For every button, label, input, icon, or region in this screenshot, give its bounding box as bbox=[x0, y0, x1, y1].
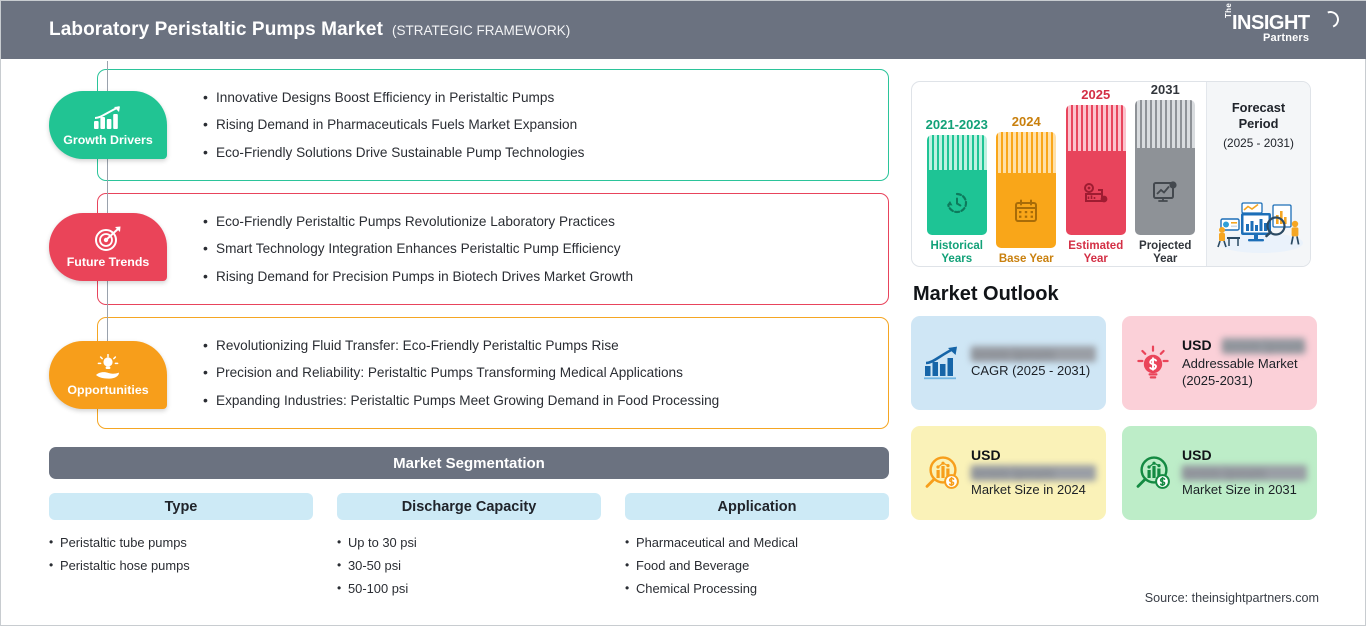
outlook-card-label: Market Size in 2024 bbox=[971, 482, 1096, 498]
list-item: Pharmaceutical and Medical bbox=[625, 532, 889, 555]
pill-connector-line bbox=[107, 183, 108, 217]
calendar-icon bbox=[1013, 198, 1039, 224]
timeline-category-label: Projected Year bbox=[1131, 240, 1199, 266]
bar-solid bbox=[1066, 151, 1126, 235]
badge-future-trends[interactable]: Future Trends bbox=[49, 213, 167, 281]
timeline-year-label: 2021-2023 bbox=[926, 117, 988, 132]
timeline-year-label: 2031 bbox=[1151, 82, 1180, 97]
logo-arc-icon bbox=[1319, 8, 1341, 30]
timeline-item-estimated: 2025 bbox=[1062, 82, 1130, 266]
bar-chart-arrow-icon bbox=[93, 104, 123, 130]
future-trends-card: Eco-Friendly Peristaltic Pumps Revolutio… bbox=[97, 193, 889, 305]
bar-stripe-top bbox=[1066, 105, 1126, 151]
outlook-card-value: lorem ipsum bbox=[971, 465, 1096, 481]
bar-solid bbox=[1135, 148, 1195, 235]
bar-solid bbox=[996, 173, 1056, 248]
timeline-item-projected: 2031 Projected Year bbox=[1131, 82, 1199, 266]
list-item: 50-100 psi bbox=[337, 578, 601, 601]
right-column: 2021-2023 Historical Years bbox=[911, 81, 1321, 520]
opportunities-card: Revolutionizing Fluid Transfer: Eco-Frie… bbox=[97, 317, 889, 429]
bar-stripe-top bbox=[1135, 100, 1195, 148]
outlook-card-currency: USD bbox=[1182, 337, 1212, 353]
column-list: Peristaltic tube pumps Peristaltic hose … bbox=[49, 532, 313, 578]
forecast-title-line2: Period bbox=[1239, 116, 1279, 132]
list-item: Eco-Friendly Peristaltic Pumps Revolutio… bbox=[203, 208, 870, 236]
future-trends-list: Eco-Friendly Peristaltic Pumps Revolutio… bbox=[203, 208, 870, 291]
lightbulb-hand-icon bbox=[93, 354, 123, 380]
column-header: Application bbox=[625, 493, 889, 520]
timeline-bar bbox=[996, 132, 1056, 248]
column-list: Up to 30 psi 30-50 psi 50-100 psi bbox=[337, 532, 601, 601]
outlook-card-addressable-market[interactable]: USD lorem ipsum Addressable Market (2025… bbox=[1122, 316, 1317, 410]
list-item: Precision and Reliability: Peristaltic P… bbox=[203, 359, 870, 387]
list-item: Peristaltic tube pumps bbox=[49, 532, 313, 555]
logo-partners-text: Partners bbox=[1263, 33, 1309, 44]
timeline-bar bbox=[1066, 105, 1126, 235]
badge-label: Opportunities bbox=[67, 383, 148, 397]
history-clock-icon bbox=[944, 190, 970, 216]
outlook-card-market-size-2024[interactable]: USD lorem ipsum Market Size in 2024 bbox=[911, 426, 1106, 520]
forecast-range: (2025 - 2031) bbox=[1223, 136, 1294, 150]
page-header: Laboratory Peristaltic Pumps Market (STR… bbox=[1, 1, 1366, 59]
segmentation-column-application: Application Pharmaceutical and Medical F… bbox=[625, 493, 889, 601]
segmentation-columns: Type Peristaltic tube pumps Peristaltic … bbox=[49, 493, 889, 601]
outlook-card-market-size-2031[interactable]: USD lorem ipsum Market Size in 2031 bbox=[1122, 426, 1317, 520]
magnifier-chart-orange-icon bbox=[921, 455, 963, 491]
timeline-year-label: 2025 bbox=[1081, 87, 1110, 102]
column-header: Type bbox=[49, 493, 313, 520]
page-subtitle: (STRATEGIC FRAMEWORK) bbox=[392, 23, 570, 38]
timeline-item-historical: 2021-2023 Historical Years bbox=[923, 82, 991, 266]
list-item: Rising Demand in Pharmaceuticals Fuels M… bbox=[203, 111, 870, 139]
list-item: 30-50 psi bbox=[337, 555, 601, 578]
pill-connector-line bbox=[107, 307, 108, 343]
outlook-card-cagr[interactable]: lorem ipsum CAGR (2025 - 2031) bbox=[911, 316, 1106, 410]
segmentation-column-discharge-capacity: Discharge Capacity Up to 30 psi 30-50 ps… bbox=[337, 493, 601, 601]
infographic-page: Laboratory Peristaltic Pumps Market (STR… bbox=[0, 0, 1366, 626]
page-title: Laboratory Peristaltic Pumps Market bbox=[49, 19, 383, 41]
outlook-card-value: lorem ipsum bbox=[971, 346, 1096, 362]
timeline-item-base: 2024 Base Year bbox=[992, 82, 1060, 266]
insight-partners-logo[interactable]: The INSIGHT Partners bbox=[1221, 10, 1343, 50]
forecast-title-line1: Forecast bbox=[1232, 100, 1285, 116]
opportunities-block: Opportunities Revolutionizing Fluid Tran… bbox=[49, 317, 889, 429]
outlook-card-text: USD lorem ipsum Market Size in 2031 bbox=[1182, 447, 1307, 498]
outlook-card-label: CAGR (2025 - 2031) bbox=[971, 363, 1096, 379]
list-item: Food and Beverage bbox=[625, 555, 889, 578]
outlook-card-value: lorem ipsum bbox=[1222, 338, 1305, 354]
drivers-column: Growth Drivers Innovative Designs Boost … bbox=[49, 69, 889, 441]
analytics-team-illustration bbox=[1213, 193, 1305, 258]
column-header: Discharge Capacity bbox=[337, 493, 601, 520]
outlook-card-currency: USD bbox=[1182, 447, 1212, 463]
opportunities-list: Revolutionizing Fluid Transfer: Eco-Frie… bbox=[203, 332, 870, 415]
outlook-card-value: lorem ipsum bbox=[1182, 465, 1307, 481]
segmentation-column-type: Type Peristaltic tube pumps Peristaltic … bbox=[49, 493, 313, 601]
forecast-timeline-chart: 2021-2023 Historical Years bbox=[911, 81, 1311, 267]
badge-label: Future Trends bbox=[67, 255, 150, 269]
growth-drivers-list: Innovative Designs Boost Efficiency in P… bbox=[203, 84, 870, 167]
source-attribution: Source: theinsightpartners.com bbox=[1145, 591, 1319, 605]
list-item: Chemical Processing bbox=[625, 578, 889, 601]
growth-chart-icon bbox=[921, 346, 963, 380]
bar-solid bbox=[927, 170, 987, 235]
segmentation-title: Market Segmentation bbox=[49, 447, 889, 479]
timeline-bar bbox=[1135, 100, 1195, 235]
logo-insight-text: INSIGHT bbox=[1232, 13, 1310, 33]
timeline-category-label: Historical Years bbox=[923, 240, 991, 266]
list-item: Rising Demand for Precision Pumps in Bio… bbox=[203, 263, 870, 291]
timeline-bars: 2021-2023 Historical Years bbox=[912, 82, 1206, 266]
market-outlook-title: Market Outlook bbox=[913, 283, 1321, 306]
market-segmentation: Market Segmentation Type Peristaltic tub… bbox=[49, 447, 889, 601]
magnifier-chart-green-icon bbox=[1132, 455, 1174, 491]
outlook-cards: lorem ipsum CAGR (2025 - 2031) bbox=[911, 316, 1321, 520]
forecast-period-panel: Forecast Period (2025 - 2031) bbox=[1206, 82, 1310, 266]
column-list: Pharmaceutical and Medical Food and Beve… bbox=[625, 532, 889, 601]
badge-label: Growth Drivers bbox=[63, 133, 153, 147]
list-item: Peristaltic hose pumps bbox=[49, 555, 313, 578]
monitor-chart-icon bbox=[1152, 180, 1178, 204]
list-item: Up to 30 psi bbox=[337, 532, 601, 555]
outlook-card-text: USD lorem ipsum Market Size in 2024 bbox=[971, 447, 1096, 498]
outlook-card-currency: USD bbox=[971, 447, 1001, 463]
outlook-card-label: Market Size in 2031 bbox=[1182, 482, 1307, 498]
future-trends-block: Future Trends Eco-Friendly Peristaltic P… bbox=[49, 193, 889, 305]
gear-chart-icon bbox=[1082, 181, 1110, 205]
growth-drivers-card: Innovative Designs Boost Efficiency in P… bbox=[97, 69, 889, 181]
list-item: Innovative Designs Boost Efficiency in P… bbox=[203, 84, 870, 112]
timeline-category-label: Base Year bbox=[999, 253, 1054, 266]
bar-stripe-top bbox=[927, 135, 987, 170]
outlook-card-text: USD lorem ipsum Addressable Market (2025… bbox=[1182, 337, 1307, 389]
bar-stripe-top bbox=[996, 132, 1056, 173]
outlook-card-label: Addressable Market (2025-2031) bbox=[1182, 356, 1307, 389]
badge-opportunities[interactable]: Opportunities bbox=[49, 341, 167, 409]
timeline-category-label: Estimated Year bbox=[1062, 240, 1130, 266]
growth-drivers-block: Growth Drivers Innovative Designs Boost … bbox=[49, 69, 889, 181]
dollar-bulb-icon bbox=[1132, 345, 1174, 381]
timeline-bar bbox=[927, 135, 987, 235]
list-item: Revolutionizing Fluid Transfer: Eco-Frie… bbox=[203, 332, 870, 360]
list-item: Eco-Friendly Solutions Drive Sustainable… bbox=[203, 139, 870, 167]
outlook-card-text: lorem ipsum CAGR (2025 - 2031) bbox=[971, 346, 1096, 379]
list-item: Smart Technology Integration Enhances Pe… bbox=[203, 235, 870, 263]
timeline-year-label: 2024 bbox=[1012, 114, 1041, 129]
list-item: Expanding Industries: Peristaltic Pumps … bbox=[203, 387, 870, 415]
badge-growth-drivers[interactable]: Growth Drivers bbox=[49, 91, 167, 159]
target-dart-icon bbox=[94, 226, 122, 252]
